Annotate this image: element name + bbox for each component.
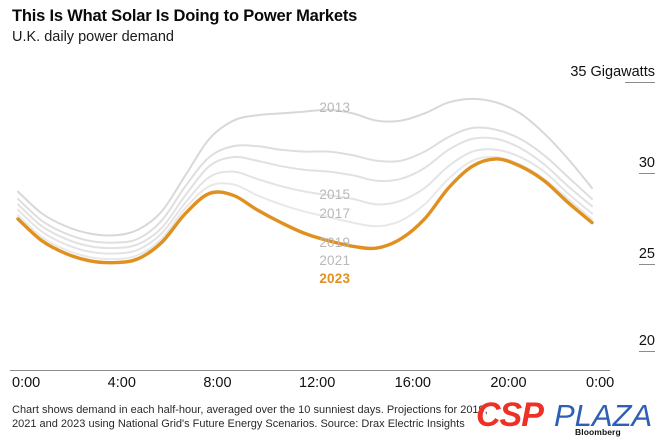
x-tick-20-00: 20:00 (490, 374, 526, 392)
series-label-2017: 2017 (319, 206, 350, 221)
x-tick-8-00: 8:00 (203, 374, 231, 392)
chart-subtitle: U.K. daily power demand (12, 28, 655, 47)
x-tick-0-00: 0:00 (12, 374, 40, 392)
x-tick-16-00: 16:00 (395, 374, 431, 392)
series-label-2019: 2019 (319, 235, 350, 250)
series-label-2023: 2023 (319, 271, 350, 286)
x-tick-0-00: 0:00 (586, 374, 614, 392)
x-axis: 0:004:008:0012:0016:0020:000:00 (0, 374, 667, 396)
x-tick-4-00: 4:00 (108, 374, 136, 392)
footnote: Chart shows demand in each half-hour, av… (12, 404, 482, 431)
page-title: This Is What Solar Is Doing to Power Mar… (12, 6, 655, 26)
series-line-2017 (18, 138, 592, 249)
chart-root: This Is What Solar Is Doing to Power Mar… (0, 0, 667, 447)
series-line-2021 (18, 157, 592, 259)
brand-label: Bloomberg (575, 427, 621, 437)
footnote-line-2: 2021 and 2023 using National Grid's Futu… (12, 418, 482, 432)
series-label-2013: 2013 (319, 100, 350, 115)
series-label-2015: 2015 (319, 187, 350, 202)
x-axis-line (10, 370, 610, 371)
series-line-2015 (18, 127, 592, 242)
series-line-2013 (18, 99, 592, 236)
x-tick-12-00: 12:00 (299, 374, 335, 392)
footnote-line-1: Chart shows demand in each half-hour, av… (12, 404, 482, 418)
series-label-2021: 2021 (319, 253, 350, 268)
chart-header: This Is What Solar Is Doing to Power Mar… (12, 6, 655, 47)
watermark: CSP PLAZA (476, 396, 661, 442)
series-line-2019 (18, 149, 592, 253)
